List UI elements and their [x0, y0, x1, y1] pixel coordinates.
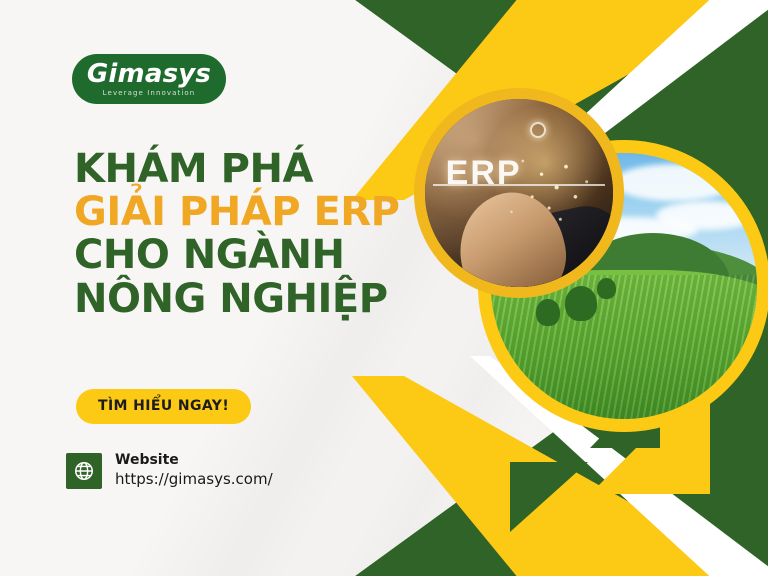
headline-line-1: KHÁM PHÁ — [74, 148, 399, 191]
cloud-shape — [656, 201, 757, 230]
erp-photo-circle: ERP — [414, 88, 624, 298]
marketing-banner: ERP Gimasys Leverage Innovation KHÁM PHÁ… — [0, 0, 768, 576]
headline-line-2: GIẢI PHÁP ERP — [74, 191, 399, 234]
website-text: Website https://gimasys.com/ — [115, 452, 273, 489]
tree-shape — [565, 286, 597, 321]
cloud-shape — [613, 164, 735, 201]
website-contact-block[interactable]: Website https://gimasys.com/ — [66, 452, 273, 489]
sparkle-particles — [425, 99, 613, 287]
learn-more-button[interactable]: TÌM HIỂU NGAY! — [76, 389, 251, 424]
website-url[interactable]: https://gimasys.com/ — [115, 470, 273, 490]
headline-line-4: NÔNG NGHIỆP — [74, 278, 399, 321]
globe-icon — [66, 453, 102, 489]
headline-block: KHÁM PHÁ GIẢI PHÁP ERP CHO NGÀNH NÔNG NG… — [74, 148, 399, 321]
logo-tagline: Leverage Innovation — [103, 89, 196, 97]
gimasys-logo[interactable]: Gimasys Leverage Innovation — [72, 54, 226, 104]
website-label: Website — [115, 452, 273, 470]
tree-shape — [536, 299, 560, 326]
headline-line-3: CHO NGÀNH — [74, 234, 399, 277]
logo-wordmark: Gimasys — [87, 61, 211, 87]
